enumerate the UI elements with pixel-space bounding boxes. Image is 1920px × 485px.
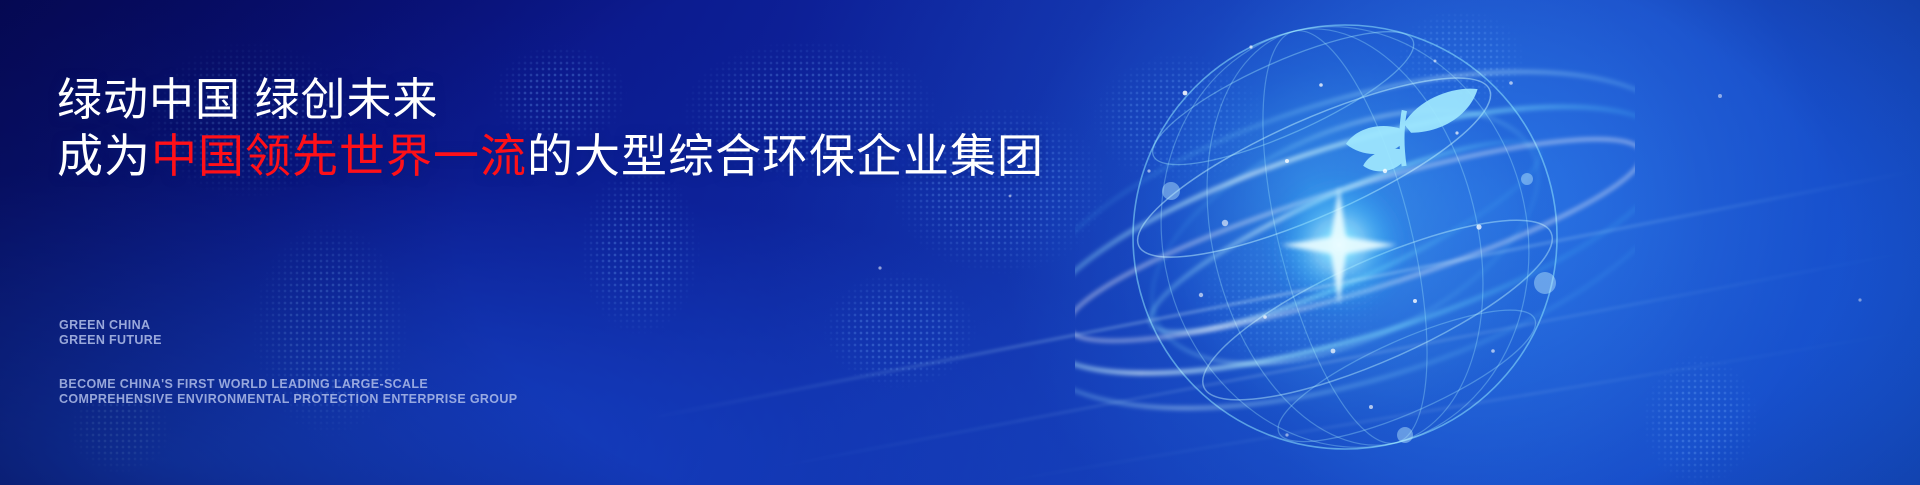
headline-line2-accent: 中国领先世界一流 xyxy=(151,130,527,182)
english-slogan-line-1: GREEN CHINA xyxy=(59,318,162,333)
hero-banner: 绿动中国 绿创未来 成为中国领先世界一流的大型综合环保企业集团 GREEN CH… xyxy=(0,0,1920,485)
headline-line2-suffix: 的大型综合环保企业集团 xyxy=(527,130,1044,182)
english-description-line-1: BECOME CHINA'S FIRST WORLD LEADING LARGE… xyxy=(59,377,517,392)
headline-line2-prefix: 成为 xyxy=(57,130,151,182)
english-slogan-line-2: GREEN FUTURE xyxy=(59,333,162,348)
english-slogan-block: GREEN CHINA GREEN FUTURE xyxy=(59,318,162,348)
headline-block: 绿动中国 绿创未来 成为中国领先世界一流的大型综合环保企业集团 xyxy=(57,72,1044,184)
english-description-block: BECOME CHINA'S FIRST WORLD LEADING LARGE… xyxy=(59,377,517,407)
headline-line-2: 成为中国领先世界一流的大型综合环保企业集团 xyxy=(57,128,1044,184)
english-description-line-2: COMPREHENSIVE ENVIRONMENTAL PROTECTION E… xyxy=(59,392,517,407)
headline-line-1: 绿动中国 绿创未来 xyxy=(57,72,1044,128)
